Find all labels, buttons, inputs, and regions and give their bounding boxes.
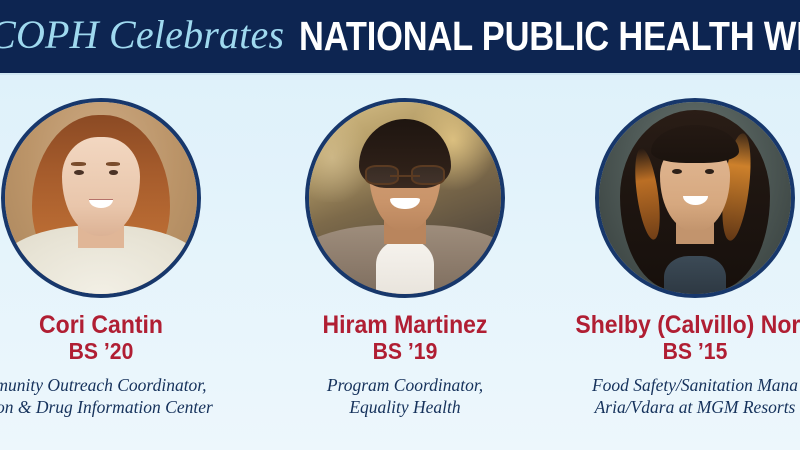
- profile-role-line1-1: munity Outreach Coordinator,: [0, 374, 231, 396]
- profile-degree-3: BS ’15: [575, 338, 800, 364]
- promo-banner: EZCOPH Celebrates NATIONAL PUBLIC HEALTH…: [0, 0, 800, 450]
- shirt-shape: [376, 240, 434, 298]
- profile-role-line1-2: Program Coordinator,: [275, 374, 535, 396]
- profile-card-3: Shelby (Calvillo) Norw BS ’15 Food Safet…: [565, 78, 800, 418]
- profile-name-3: Shelby (Calvillo) Norw: [575, 312, 800, 338]
- portrait-wrap-3: [595, 98, 795, 298]
- portrait-photo-3: [599, 102, 791, 294]
- eye-left: [74, 170, 84, 175]
- banner-script-title: EZCOPH Celebrates: [0, 15, 284, 58]
- portrait-photo-2: [309, 102, 501, 294]
- eye-left: [672, 169, 682, 174]
- profile-role-line2-3: Aria/Vdara at MGM Resorts: [565, 396, 800, 418]
- hiram-martinez-portrait: [305, 98, 505, 298]
- brow-left: [71, 162, 85, 165]
- profile-name-1: Cori Cantin: [0, 312, 221, 338]
- banner-header-text-row: EZCOPH Celebrates NATIONAL PUBLIC HEALTH…: [0, 0, 800, 73]
- profile-card-1: Cori Cantin BS ’20 munity Outreach Coord…: [0, 78, 231, 418]
- profile-degree-2: BS ’19: [285, 338, 524, 364]
- profile-role-line2-1: son & Drug Information Center: [0, 396, 231, 418]
- profile-role-line2-2: Equality Health: [275, 396, 535, 418]
- brow-right: [106, 162, 120, 165]
- cori-cantin-portrait: [1, 98, 201, 298]
- banner-header: EZCOPH Celebrates NATIONAL PUBLIC HEALTH…: [0, 0, 800, 73]
- profile-card-2: Hiram Martinez BS ’19 Program Coordinato…: [275, 78, 535, 418]
- profile-degree-1: BS ’20: [0, 338, 221, 364]
- glasses-bridge: [390, 175, 421, 177]
- banner-main-title: NATIONAL PUBLIC HEALTH WEEK: [299, 16, 800, 57]
- portrait-wrap-1: [1, 98, 201, 298]
- profile-role-line1-3: Food Safety/Sanitation Mana: [565, 374, 800, 396]
- portrait-wrap-2: [305, 98, 505, 298]
- profile-name-2: Hiram Martinez: [285, 312, 524, 338]
- collar-shape: [664, 256, 725, 298]
- header-divider: [0, 73, 800, 75]
- shelby-norwood-portrait: [595, 98, 795, 298]
- portrait-photo-1: [5, 102, 197, 294]
